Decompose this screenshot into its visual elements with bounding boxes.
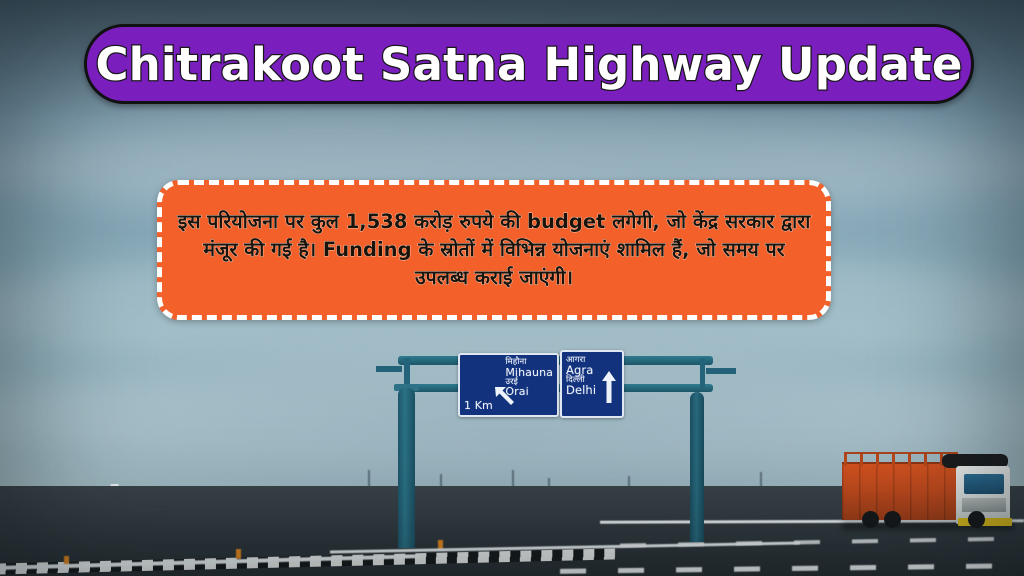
sign-distance-label: 1 Km <box>464 400 493 411</box>
truck-wheel <box>968 511 985 528</box>
truck-wheel <box>862 511 879 528</box>
road-cone <box>236 549 241 559</box>
gantry-post-left <box>398 388 415 548</box>
info-callout-text: इस परियोजना पर कुल 1,538 करोड़ रुपये की … <box>162 208 826 291</box>
gantry-side-arm <box>706 368 736 374</box>
screenshot-root: मिहौना Mihauna उरई Orai 1 Km आगरा Agra द… <box>0 0 1024 576</box>
truck-cargo-body <box>842 462 958 520</box>
info-callout-box: इस परियोजना पर कुल 1,538 करोड़ रुपये की … <box>157 180 831 320</box>
truck <box>842 452 1024 544</box>
gantry-side-arm <box>376 366 402 372</box>
truck-windshield <box>964 474 1004 494</box>
truck-wheel <box>884 511 901 528</box>
road-sign-mihauna-orai: मिहौना Mihauna उरई Orai 1 Km <box>458 353 559 417</box>
straight-up-arrow-icon <box>601 370 617 404</box>
truck-grille <box>962 498 1006 512</box>
road-sign-agra-delhi: आगरा Agra दिल्ली Delhi <box>560 350 624 418</box>
gantry-brace <box>700 358 705 388</box>
truck-bumper <box>958 518 1012 526</box>
page-title: Chitrakoot Satna Highway Update <box>95 42 962 87</box>
sign-destination-english: Delhi <box>566 385 596 397</box>
diagonal-up-left-arrow-icon <box>490 381 520 411</box>
title-banner: Chitrakoot Satna Highway Update <box>84 24 974 104</box>
sign-destination-english: Mihauna <box>505 367 553 378</box>
gantry-post-right <box>690 392 704 542</box>
truck-top-rails <box>844 452 958 466</box>
